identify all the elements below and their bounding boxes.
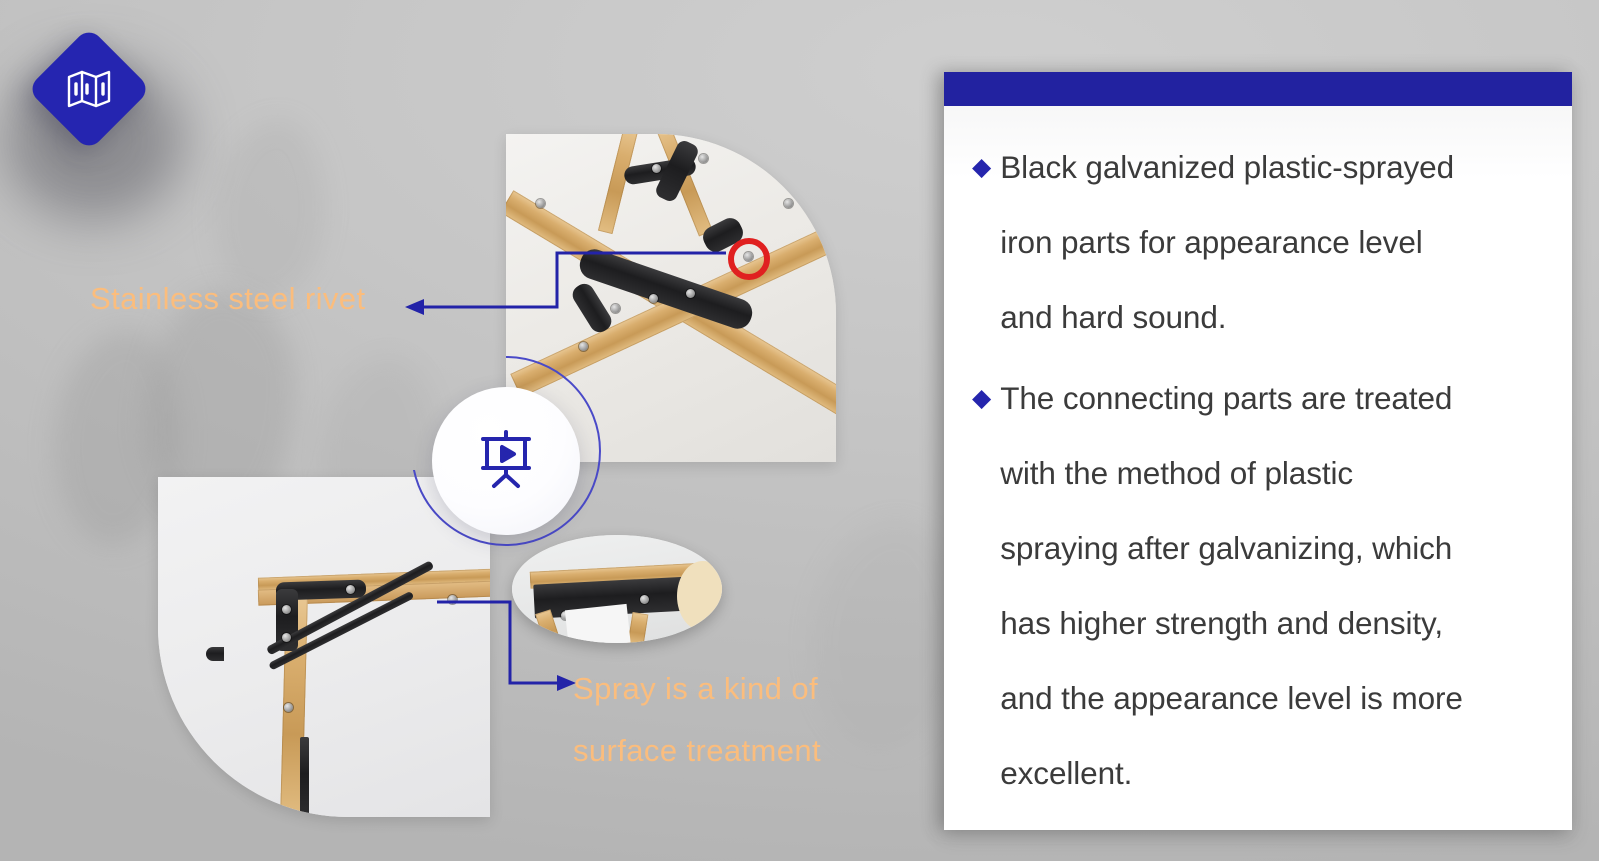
annotation-label-spray-line2: surface treatment — [573, 720, 903, 782]
content-panel: ◆ Black galvanized plastic-sprayed iron … — [944, 72, 1572, 830]
bullet-item-1-text: Black galvanized plastic-sprayed iron pa… — [1000, 130, 1454, 355]
photo-edge-strip — [512, 535, 722, 643]
bullet-2-line-4: has higher strength and density, — [1000, 605, 1443, 641]
bullet-1-line-2: iron parts for appearance level — [1000, 224, 1422, 260]
annotation-label-rivet: Stainless steel rivet — [90, 281, 365, 317]
bullet-2-line-6: excellent. — [1000, 755, 1132, 791]
panel-header-bar — [944, 72, 1572, 106]
media-circle-badge[interactable] — [432, 387, 580, 535]
bullet-item-1: ◆ Black galvanized plastic-sprayed iron … — [972, 130, 1550, 355]
annotation-label-spray: Spray is a kind of surface treatment — [573, 658, 903, 782]
bullet-2-line-5: and the appearance level is more — [1000, 680, 1463, 716]
rivet-highlight-ring — [728, 238, 770, 280]
map-icon — [45, 45, 133, 133]
presentation-play-icon — [475, 428, 537, 495]
bullet-item-2: ◆ The connecting parts are treated with … — [972, 361, 1550, 811]
diamond-bullet-icon: ◆ — [972, 361, 991, 436]
bullet-item-2-text: The connecting parts are treated with th… — [1000, 361, 1463, 811]
bullet-1-line-1: Black galvanized plastic-sprayed — [1000, 149, 1454, 185]
annotation-label-spray-line1: Spray is a kind of — [573, 658, 903, 720]
panel-body: ◆ Black galvanized plastic-sprayed iron … — [972, 130, 1550, 817]
slide-canvas: Stainless steel rivet Spray is a kind of… — [0, 0, 1599, 861]
bullet-2-line-2: with the method of plastic — [1000, 455, 1353, 491]
bullet-2-line-1: The connecting parts are treated — [1000, 380, 1452, 416]
diamond-bullet-icon: ◆ — [972, 130, 991, 205]
bullet-2-line-3: spraying after galvanizing, which — [1000, 530, 1452, 566]
bullet-1-line-3: and hard sound. — [1000, 299, 1226, 335]
photo-corner-bracket — [158, 477, 490, 817]
